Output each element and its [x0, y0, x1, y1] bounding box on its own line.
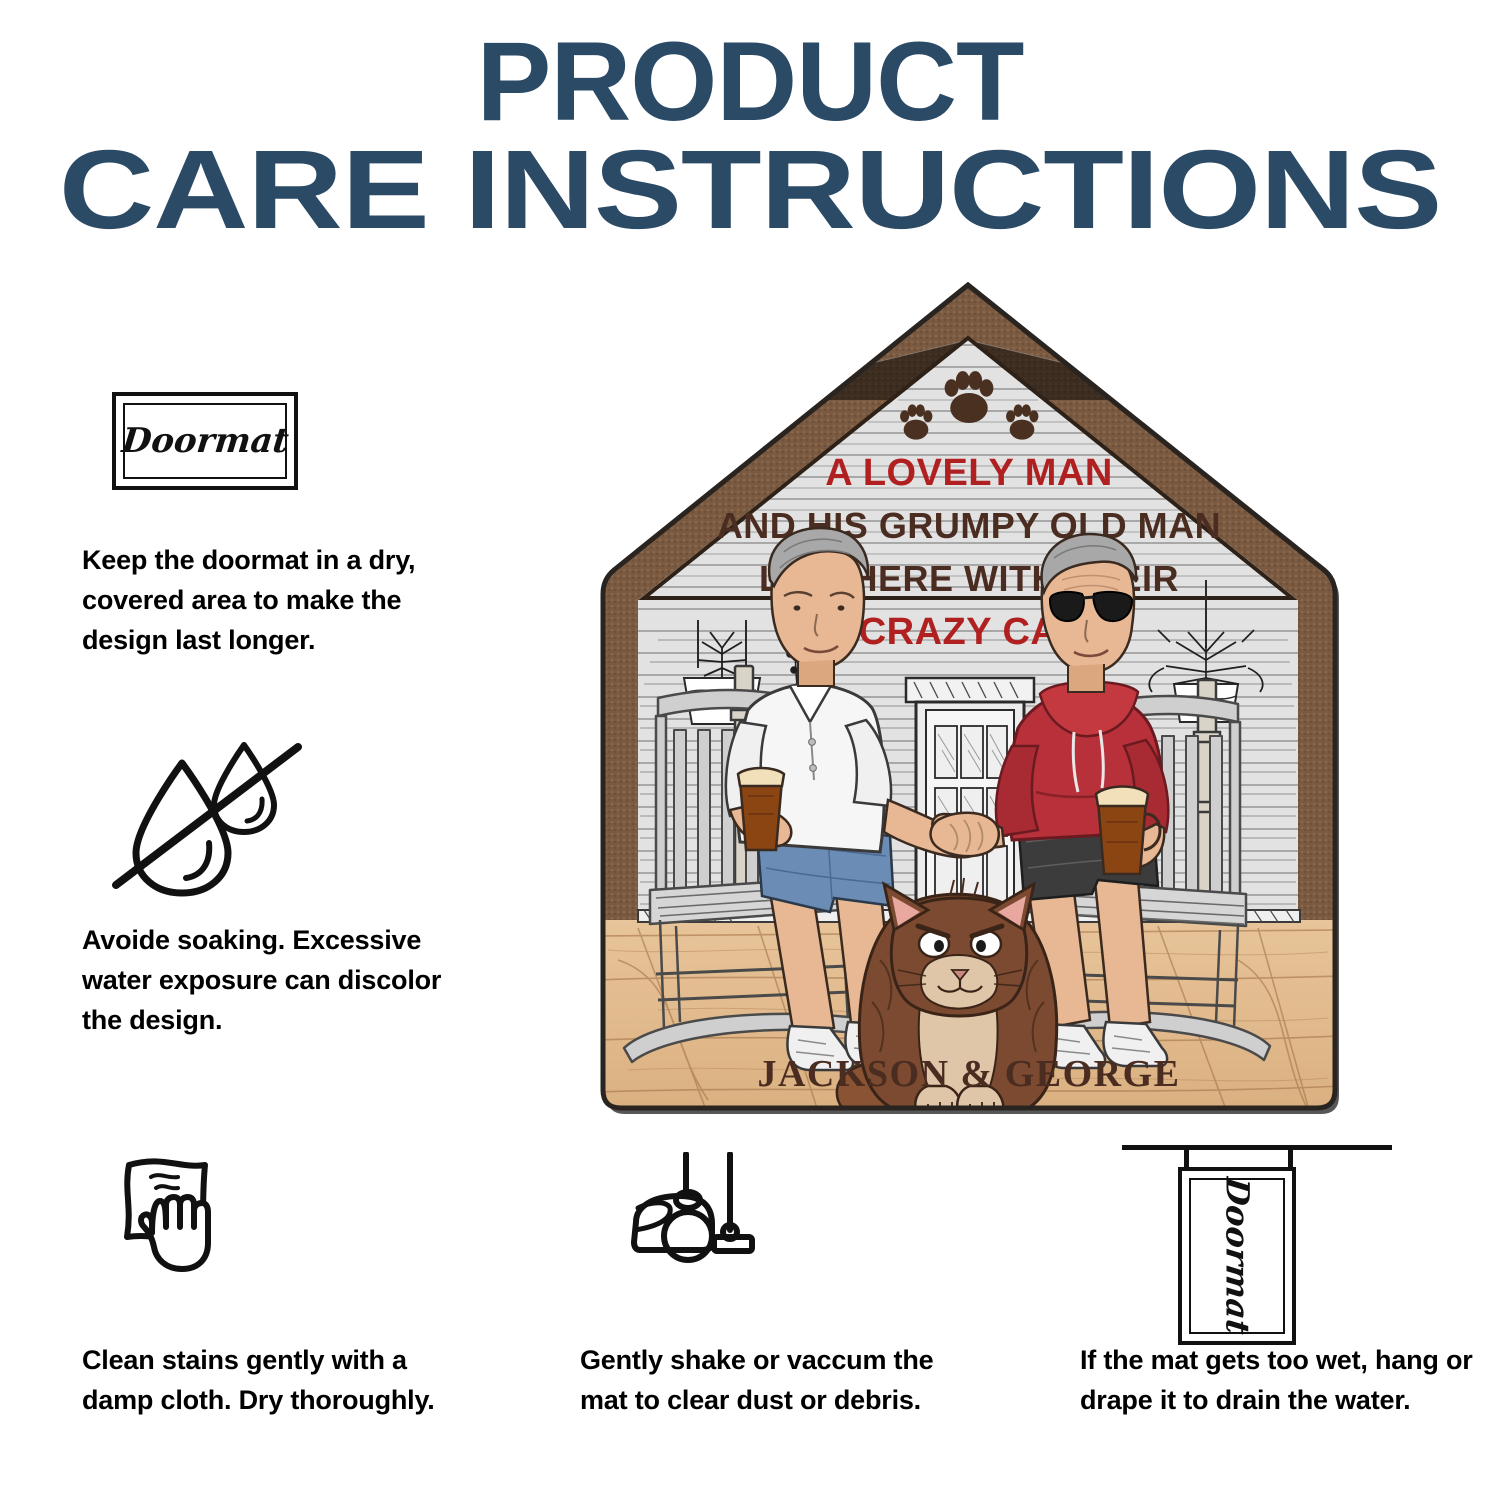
holding-hands — [931, 813, 999, 856]
doormat-outer-border: Doormat — [112, 392, 298, 490]
doormat-inner-border: Doormat — [123, 403, 287, 479]
hanging-rod — [1122, 1145, 1392, 1150]
mat-quote-line-1: A LOVELY MAN — [825, 452, 1113, 494]
title-line-product: PRODUCT — [0, 28, 1500, 136]
hanging-doormat-body: Doormat — [1178, 1167, 1296, 1345]
cloth-wipe-hand-icon — [108, 1155, 308, 1345]
doormat-label-icon: Doormat — [112, 392, 298, 490]
doormat-script-label: Doormat — [120, 421, 291, 461]
page-title: PRODUCT CARE INSTRUCTIONS — [0, 28, 1500, 243]
beer-glass — [738, 768, 784, 850]
vacuum-cleaner-icon — [608, 1152, 828, 1342]
hanging-doormat-script-label: Doormat — [1218, 1176, 1256, 1337]
care-text-avoid-soaking: Avoide soaking. Excessive water exposure… — [82, 920, 482, 1040]
care-text-shake-vacuum: Gently shake or vaccum the mat to clear … — [580, 1340, 980, 1420]
no-water-droplets-icon — [112, 735, 312, 905]
hanging-doormat-inner-border: Doormat — [1189, 1178, 1285, 1334]
mat-names: JACKSON & GEORGE — [757, 1053, 1180, 1095]
care-text-keep-dry: Keep the doormat in a dry, covered area … — [82, 540, 482, 660]
title-line-care-instructions: CARE INSTRUCTIONS — [0, 136, 1500, 244]
care-text-damp-cloth: Clean stains gently with a damp cloth. D… — [82, 1340, 482, 1420]
product-doormat-image: A LOVELY MAN AND HIS GRUMPY OLD MAN LIVE… — [598, 280, 1340, 1142]
care-text-hang-to-drain: If the mat gets too wet, hang or drape i… — [1080, 1340, 1480, 1420]
care-instructions-page: PRODUCT CARE INSTRUCTIONS Doormat Keep t… — [0, 0, 1500, 1500]
hanging-doormat-icon: Doormat — [1122, 1145, 1392, 1355]
